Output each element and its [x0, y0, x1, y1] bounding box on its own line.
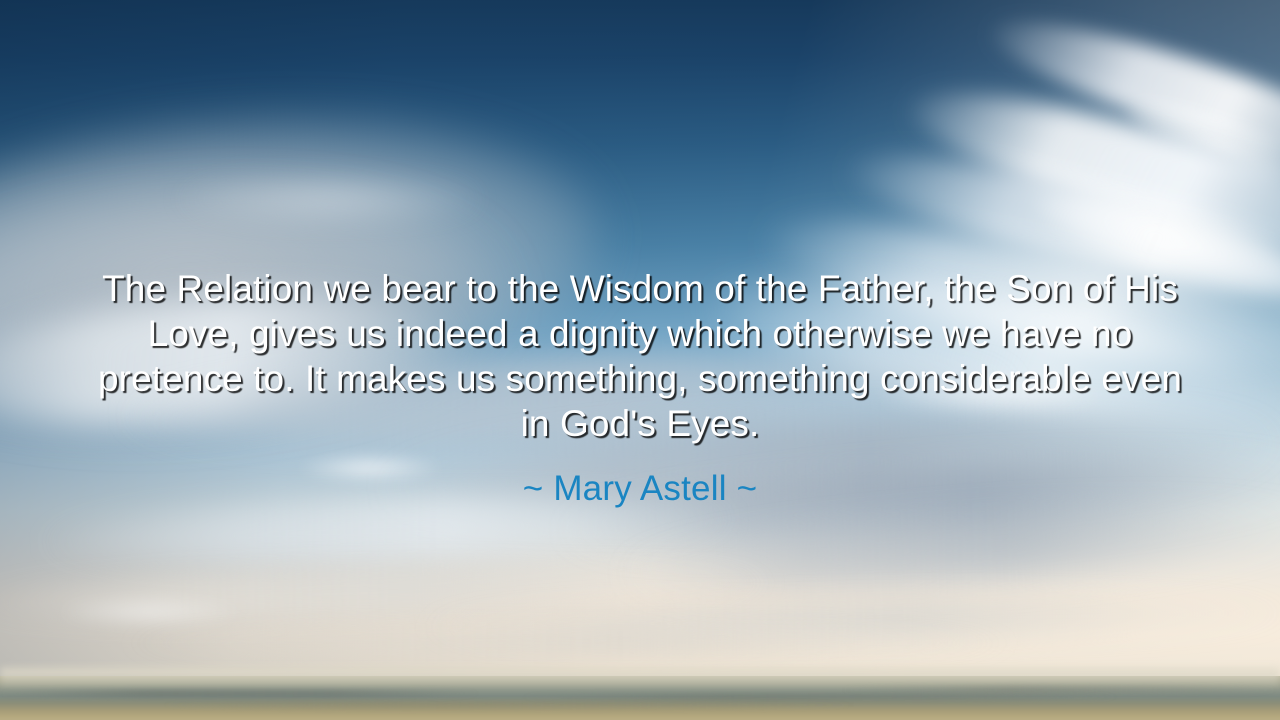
- quote-block: The Relation we bear to the Wisdom of th…: [85, 266, 1195, 511]
- land-streak-2: [520, 694, 1120, 700]
- land-streak-3: [160, 702, 860, 708]
- land-streak-4: [840, 686, 1280, 694]
- quote-text: The Relation we bear to the Wisdom of th…: [85, 266, 1195, 446]
- quote-author: ~ Mary Astell ~: [85, 467, 1195, 511]
- quote-wallpaper: The Relation we bear to the Wisdom of th…: [0, 0, 1280, 720]
- land-streak-1: [0, 690, 480, 697]
